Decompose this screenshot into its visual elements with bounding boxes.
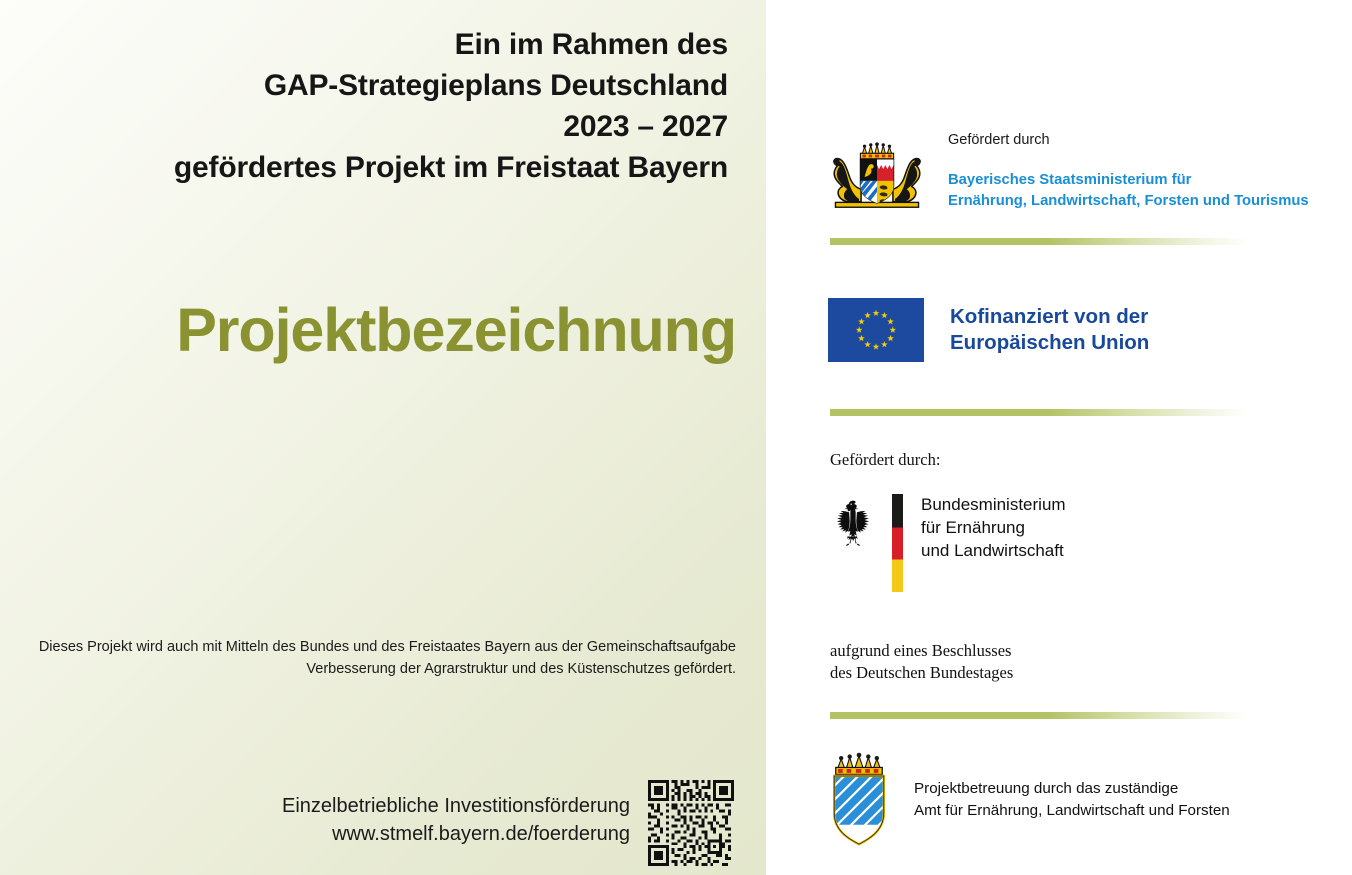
left-panel: Ein im Rahmen des GAP-Strategieplans Deu…: [0, 0, 766, 875]
headline-line-4: gefördertes Projekt im Freistaat Bayern: [28, 147, 728, 188]
gefoerdert-durch-label-2: Gefördert durch:: [830, 450, 940, 470]
footer-text: Einzelbetriebliche Investitionsförderung…: [282, 780, 648, 849]
german-flag-bar-icon: [892, 494, 903, 592]
aelf-text: Projektbetreuung durch das zuständige Am…: [890, 778, 1230, 821]
bundesadler-icon: [828, 498, 878, 550]
headline-line-3: 2023 – 2027: [28, 106, 728, 147]
bmel-line-3: und Landwirtschaft: [921, 540, 1066, 563]
footer-programme-label: Einzelbetriebliche Investitionsförderung: [282, 792, 630, 820]
eu-flag-icon: [828, 298, 924, 362]
aelf-block: Projektbetreuung durch das zuständige Am…: [828, 750, 1230, 850]
poster-root: Ein im Rahmen des GAP-Strategieplans Deu…: [0, 0, 1352, 875]
aelf-line-2: Amt für Ernährung, Landwirtschaft und Fo…: [914, 800, 1230, 822]
eu-block: Kofinanziert von der Europäischen Union: [828, 298, 1149, 362]
headline-line-1: Ein im Rahmen des: [28, 24, 728, 65]
headline-block: Ein im Rahmen des GAP-Strategieplans Deu…: [28, 24, 728, 188]
right-panel: Gefördert durch Bayerisches Staatsminist…: [766, 0, 1352, 875]
bavarian-coat-of-arms-icon: [828, 138, 926, 210]
bundestag-line-2: des Deutschen Bundestages: [830, 662, 1013, 684]
bundestag-text: aufgrund eines Beschlusses des Deutschen…: [830, 640, 1013, 685]
divider-rule-2: [830, 409, 1248, 416]
aelf-line-1: Projektbetreuung durch das zuständige: [914, 778, 1230, 800]
bmel-block: Bundesministerium für Ernährung und Land…: [828, 494, 1066, 592]
ministry-name-line-1: Bayerisches Staatsministerium für: [948, 170, 1309, 191]
project-title: Projektbezeichnung: [26, 300, 736, 361]
ministry-name-line-2: Ernährung, Landwirtschaft, Forsten und T…: [948, 191, 1309, 212]
footer-block: Einzelbetriebliche Investitionsförderung…: [0, 780, 766, 860]
bavaria-ministry-block: Gefördert durch Bayerisches Staatsminist…: [828, 128, 1338, 212]
divider-rule-3: [830, 712, 1248, 719]
bundestag-line-1: aufgrund eines Beschlusses: [830, 640, 1013, 662]
headline-line-2: GAP-Strategieplans Deutschland: [28, 65, 728, 106]
bavaria-ministry-text: Gefördert durch Bayerisches Staatsminist…: [926, 128, 1309, 212]
eu-line-1: Kofinanziert von der: [950, 304, 1149, 330]
gefoerdert-durch-label-1: Gefördert durch: [948, 130, 1309, 150]
qr-code-icon[interactable]: [648, 780, 734, 866]
bmel-line-1: Bundesministerium: [921, 494, 1066, 517]
eu-text: Kofinanziert von der Europäischen Union: [924, 304, 1149, 355]
bavarian-shield-icon: [828, 750, 890, 850]
funding-note: Dieses Projekt wird auch mit Mitteln des…: [26, 636, 736, 681]
eu-line-2: Europäischen Union: [950, 330, 1149, 356]
bmel-line-2: für Ernährung: [921, 517, 1066, 540]
bmel-text: Bundesministerium für Ernährung und Land…: [903, 494, 1066, 562]
divider-rule-1: [830, 238, 1248, 245]
footer-url[interactable]: www.stmelf.bayern.de/foerderung: [282, 820, 630, 848]
